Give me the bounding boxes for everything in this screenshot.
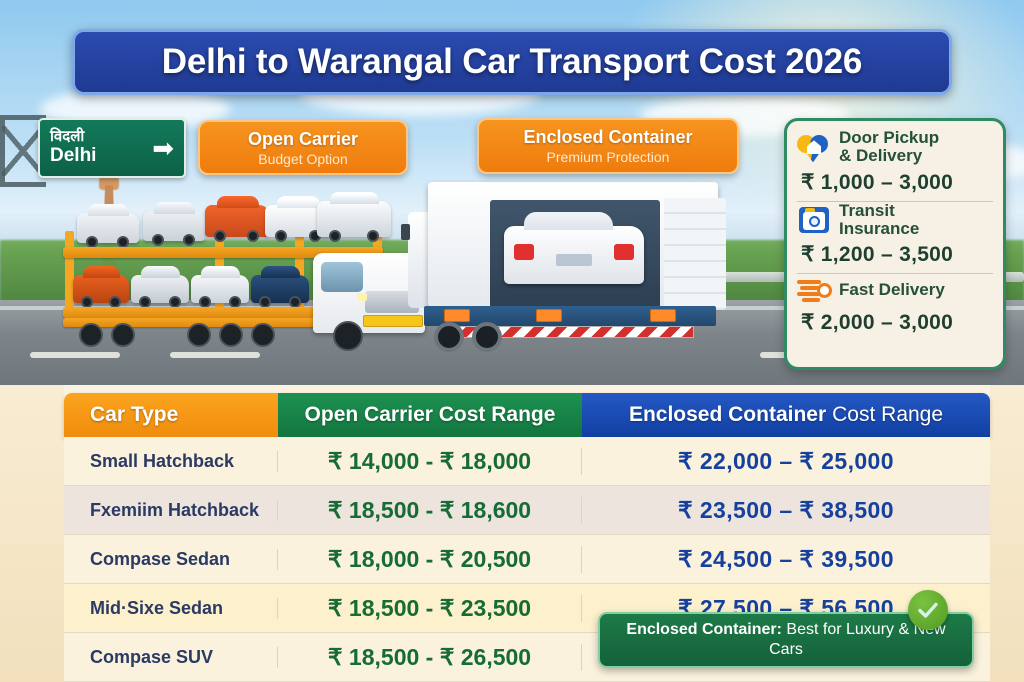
callout-bold: Enclosed Container: xyxy=(626,621,782,638)
car-rear-window xyxy=(529,216,607,229)
enclosed-container-truck xyxy=(408,172,738,362)
car-window xyxy=(280,199,318,207)
loaded-car-bottom xyxy=(251,275,309,303)
carrier-wheel xyxy=(333,321,363,351)
service-price-fast-delivery: ₹ 2,000 – 3,000 xyxy=(797,306,993,341)
container-door-panel xyxy=(664,198,726,310)
service-pricing-card: Door Pickup & Delivery ₹ 1,000 – 3,000 T… xyxy=(784,118,1006,370)
carrier-wheel xyxy=(219,323,243,347)
cost-table-section: Car Type Open Carrier Cost Range Enclose… xyxy=(0,385,1024,682)
cell-enclosed-cost: ₹ 23,500 – ₹ 38,500 xyxy=(582,497,990,524)
page-title-bar: Delhi to Warangal Car Transport Cost 202… xyxy=(72,29,952,95)
table-row: Compase Sedan ₹ 18,000 - ₹ 20,500 ₹ 24,5… xyxy=(64,535,990,584)
box-truck-wheel xyxy=(434,322,464,352)
cell-car-type: Compase Sedan xyxy=(64,549,278,570)
cell-car-type: Mid·Sixe Sedan xyxy=(64,598,278,619)
car-window xyxy=(219,199,256,207)
car-tail-light xyxy=(614,244,634,260)
page-title: Delhi to Warangal Car Transport Cost 202… xyxy=(162,42,862,82)
column-header-enclosed-container: Enclosed Container Cost Range xyxy=(582,393,990,437)
service-label-line2: Insurance xyxy=(839,219,919,238)
delhi-road-sign: विदली Delhi ➡ xyxy=(38,118,186,178)
arrow-right-icon: ➡ xyxy=(152,135,174,161)
fast-delivery-icon xyxy=(797,274,831,306)
table-header-row: Car Type Open Carrier Cost Range Enclose… xyxy=(64,393,990,437)
badge-subtitle: Premium Protection xyxy=(547,149,670,165)
service-label: Door Pickup & Delivery xyxy=(839,129,939,166)
rear-lamp xyxy=(536,309,562,322)
loaded-car-bottom xyxy=(191,275,249,303)
infographic-page: विदली Delhi ➡ Open Carrier Budget Option… xyxy=(0,0,1024,682)
service-item-door-pickup: Door Pickup & Delivery xyxy=(797,129,993,166)
carrier-wheel xyxy=(79,323,103,347)
car-wheel xyxy=(247,230,259,242)
cell-open-carrier-cost: ₹ 18,500 - ₹ 18,600 xyxy=(278,497,582,524)
sign-hindi-label: विदली xyxy=(50,129,96,146)
car-tail-light xyxy=(514,244,534,260)
service-label: Transit Insurance xyxy=(839,202,919,239)
enclosed-car xyxy=(504,226,644,284)
service-label-line1: Transit xyxy=(839,201,895,220)
loaded-car-top xyxy=(205,205,269,237)
cell-car-type: Compase SUV xyxy=(64,647,278,668)
service-price-transit-insurance: ₹ 1,200 – 3,500 xyxy=(797,238,993,274)
car-wheel xyxy=(183,234,195,246)
car-window xyxy=(144,269,178,277)
car-window xyxy=(264,269,298,277)
column-header-enclosed-bold: Enclosed Container xyxy=(629,403,826,427)
container-open-bay xyxy=(490,200,660,308)
cell-open-carrier-cost: ₹ 18,000 - ₹ 20,500 xyxy=(278,546,582,573)
service-item-transit-insurance: Transit Insurance xyxy=(797,202,993,239)
car-wheel xyxy=(275,230,287,242)
car-window xyxy=(157,205,193,213)
carrier-wheel xyxy=(111,323,135,347)
service-item-fast-delivery: Fast Delivery xyxy=(797,274,993,306)
car-wheel xyxy=(329,230,341,242)
callout-text: Enclosed Container: Best for Luxury & Ne… xyxy=(616,620,956,660)
container-body xyxy=(428,182,718,307)
loaded-car-top xyxy=(77,213,139,243)
cell-enclosed-cost: ₹ 24,500 – ₹ 39,500 xyxy=(582,546,990,573)
table-row: Fxemiim Hatchback ₹ 18,500 - ₹ 18,600 ₹ … xyxy=(64,486,990,535)
door-pickup-heart-house-icon xyxy=(797,131,831,163)
cab-mirror xyxy=(401,224,410,240)
loaded-car-top xyxy=(317,201,391,237)
table-row: Small Hatchback ₹ 14,000 - ₹ 18,000 ₹ 22… xyxy=(64,437,990,486)
sign-english-label: Delhi xyxy=(50,146,96,167)
box-truck-wheel xyxy=(472,322,502,352)
carrier-wheel xyxy=(251,323,275,347)
rear-lamp xyxy=(444,309,470,322)
service-price-door-pickup: ₹ 1,000 – 3,000 xyxy=(797,166,993,202)
cell-open-carrier-cost: ₹ 18,500 - ₹ 23,500 xyxy=(278,595,582,622)
column-header-car-type: Car Type xyxy=(64,393,278,437)
cell-car-type: Small Hatchback xyxy=(64,451,278,472)
cell-enclosed-cost: ₹ 22,000 – ₹ 25,000 xyxy=(582,448,990,475)
table-right-pad xyxy=(990,385,1024,682)
carrier-wheel xyxy=(187,323,211,347)
table-left-pad xyxy=(0,385,64,682)
loaded-car-top xyxy=(143,211,205,241)
column-header-enclosed-regular: Cost Range xyxy=(832,403,943,427)
car-wheel xyxy=(214,230,226,242)
service-label: Fast Delivery xyxy=(839,281,945,299)
column-header-open-carrier: Open Carrier Cost Range xyxy=(278,393,582,437)
car-window xyxy=(333,195,376,203)
cell-open-carrier-cost: ₹ 18,500 - ₹ 26,500 xyxy=(278,644,582,671)
badge-subtitle: Budget Option xyxy=(258,151,348,167)
service-label-line1: Door Pickup xyxy=(839,128,939,147)
car-window xyxy=(85,269,118,277)
service-label-line2: & Delivery xyxy=(839,146,922,165)
cell-car-type: Fxemiim Hatchback xyxy=(64,500,278,521)
cab-windshield xyxy=(321,262,363,292)
car-wheel xyxy=(152,234,164,246)
check-circle-icon xyxy=(908,590,948,630)
badge-enclosed-container: Enclosed Container Premium Protection xyxy=(477,118,739,174)
badge-open-carrier: Open Carrier Budget Option xyxy=(198,120,408,175)
badge-title: Enclosed Container xyxy=(523,127,692,148)
car-window xyxy=(91,207,127,215)
car-license-plate xyxy=(556,254,592,266)
transit-insurance-camera-icon xyxy=(797,204,831,236)
cell-open-carrier-cost: ₹ 14,000 - ₹ 18,000 xyxy=(278,448,582,475)
loaded-car-bottom xyxy=(73,275,129,303)
cab-headlight xyxy=(357,293,367,301)
rear-lamp xyxy=(650,309,676,322)
open-carrier-truck xyxy=(55,175,445,360)
badge-title: Open Carrier xyxy=(248,129,358,150)
car-window xyxy=(204,269,238,277)
car-wheel xyxy=(367,230,379,242)
loaded-car-bottom xyxy=(131,275,189,303)
